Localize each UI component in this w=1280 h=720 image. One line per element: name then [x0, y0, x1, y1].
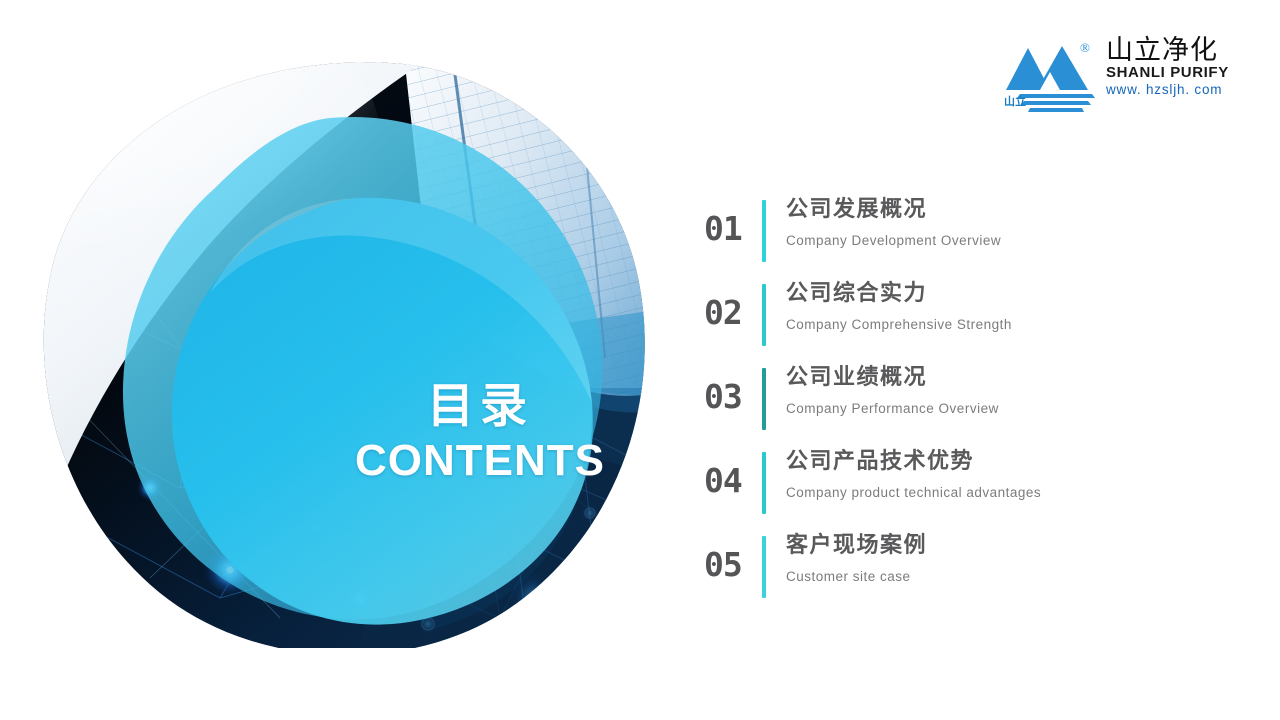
toc-title-cn-02: 公司综合实力 — [786, 280, 1264, 309]
toc-title-cn-01: 公司发展概况 — [786, 196, 1264, 225]
toc-item-03[interactable]: 03 公司业绩概况 Company Performance Overview — [704, 364, 1264, 448]
toc-texts-04: 公司产品技术优势 Company product technical advan… — [786, 448, 1264, 501]
toc-number-04: 04 — [704, 448, 762, 497]
slide-canvas: 目录 CONTENTS ® 山立 山立净化 SHANLI PURIFY www.… — [0, 0, 1280, 720]
toc-title-cn-05: 客户现场案例 — [786, 532, 1264, 561]
toc-item-01[interactable]: 01 公司发展概况 Company Development Overview — [704, 196, 1264, 280]
toc-number-01: 01 — [704, 196, 762, 245]
logo-company-en: SHANLI PURIFY — [1106, 65, 1226, 82]
toc-number-05: 05 — [704, 532, 762, 581]
toc-texts-02: 公司综合实力 Company Comprehensive Strength — [786, 280, 1264, 333]
toc-title-en-01: Company Development Overview — [786, 232, 1264, 250]
toc-item-04[interactable]: 04 公司产品技术优势 Company product technical ad… — [704, 448, 1264, 532]
logo-company-cn: 山立净化 — [1106, 37, 1226, 65]
toc-title-en-02: Company Comprehensive Strength — [786, 316, 1264, 334]
toc-divider-bar-01 — [762, 200, 766, 262]
toc-number-02: 02 — [704, 280, 762, 329]
company-logo[interactable]: ® 山立 山立净化 SHANLI PURIFY www. hzsljh. com — [1004, 34, 1224, 118]
toc-number-03: 03 — [704, 364, 762, 413]
blob-clip-group — [30, 58, 655, 648]
toc-item-05[interactable]: 05 客户现场案例 Customer site case — [704, 532, 1264, 616]
toc-title-cn-03: 公司业绩概况 — [786, 364, 1264, 393]
registered-trademark-icon: ® — [1080, 41, 1090, 54]
logo-shanli-small-cn: 山立 — [1004, 96, 1026, 107]
logo-website-url[interactable]: www. hzsljh. com — [1106, 83, 1226, 98]
toc-divider-bar-03 — [762, 368, 766, 430]
table-of-contents: 01 公司发展概况 Company Development Overview 0… — [704, 196, 1264, 616]
logo-text-block: 山立净化 SHANLI PURIFY www. hzsljh. com — [1106, 37, 1226, 98]
toc-divider-bar-05 — [762, 536, 766, 598]
toc-item-02[interactable]: 02 公司综合实力 Company Comprehensive Strength — [704, 280, 1264, 364]
toc-divider-bar-04 — [762, 452, 766, 514]
toc-texts-05: 客户现场案例 Customer site case — [786, 532, 1264, 585]
toc-divider-bar-02 — [762, 284, 766, 346]
toc-texts-03: 公司业绩概况 Company Performance Overview — [786, 364, 1264, 417]
toc-title-en-04: Company product technical advantages — [786, 484, 1264, 502]
blob-collage-graphic: 目录 CONTENTS — [30, 58, 655, 648]
toc-texts-01: 公司发展概况 Company Development Overview — [786, 196, 1264, 249]
toc-title-en-05: Customer site case — [786, 568, 1264, 586]
toc-title-cn-04: 公司产品技术优势 — [786, 448, 1264, 477]
toc-title-en-03: Company Performance Overview — [786, 400, 1264, 418]
